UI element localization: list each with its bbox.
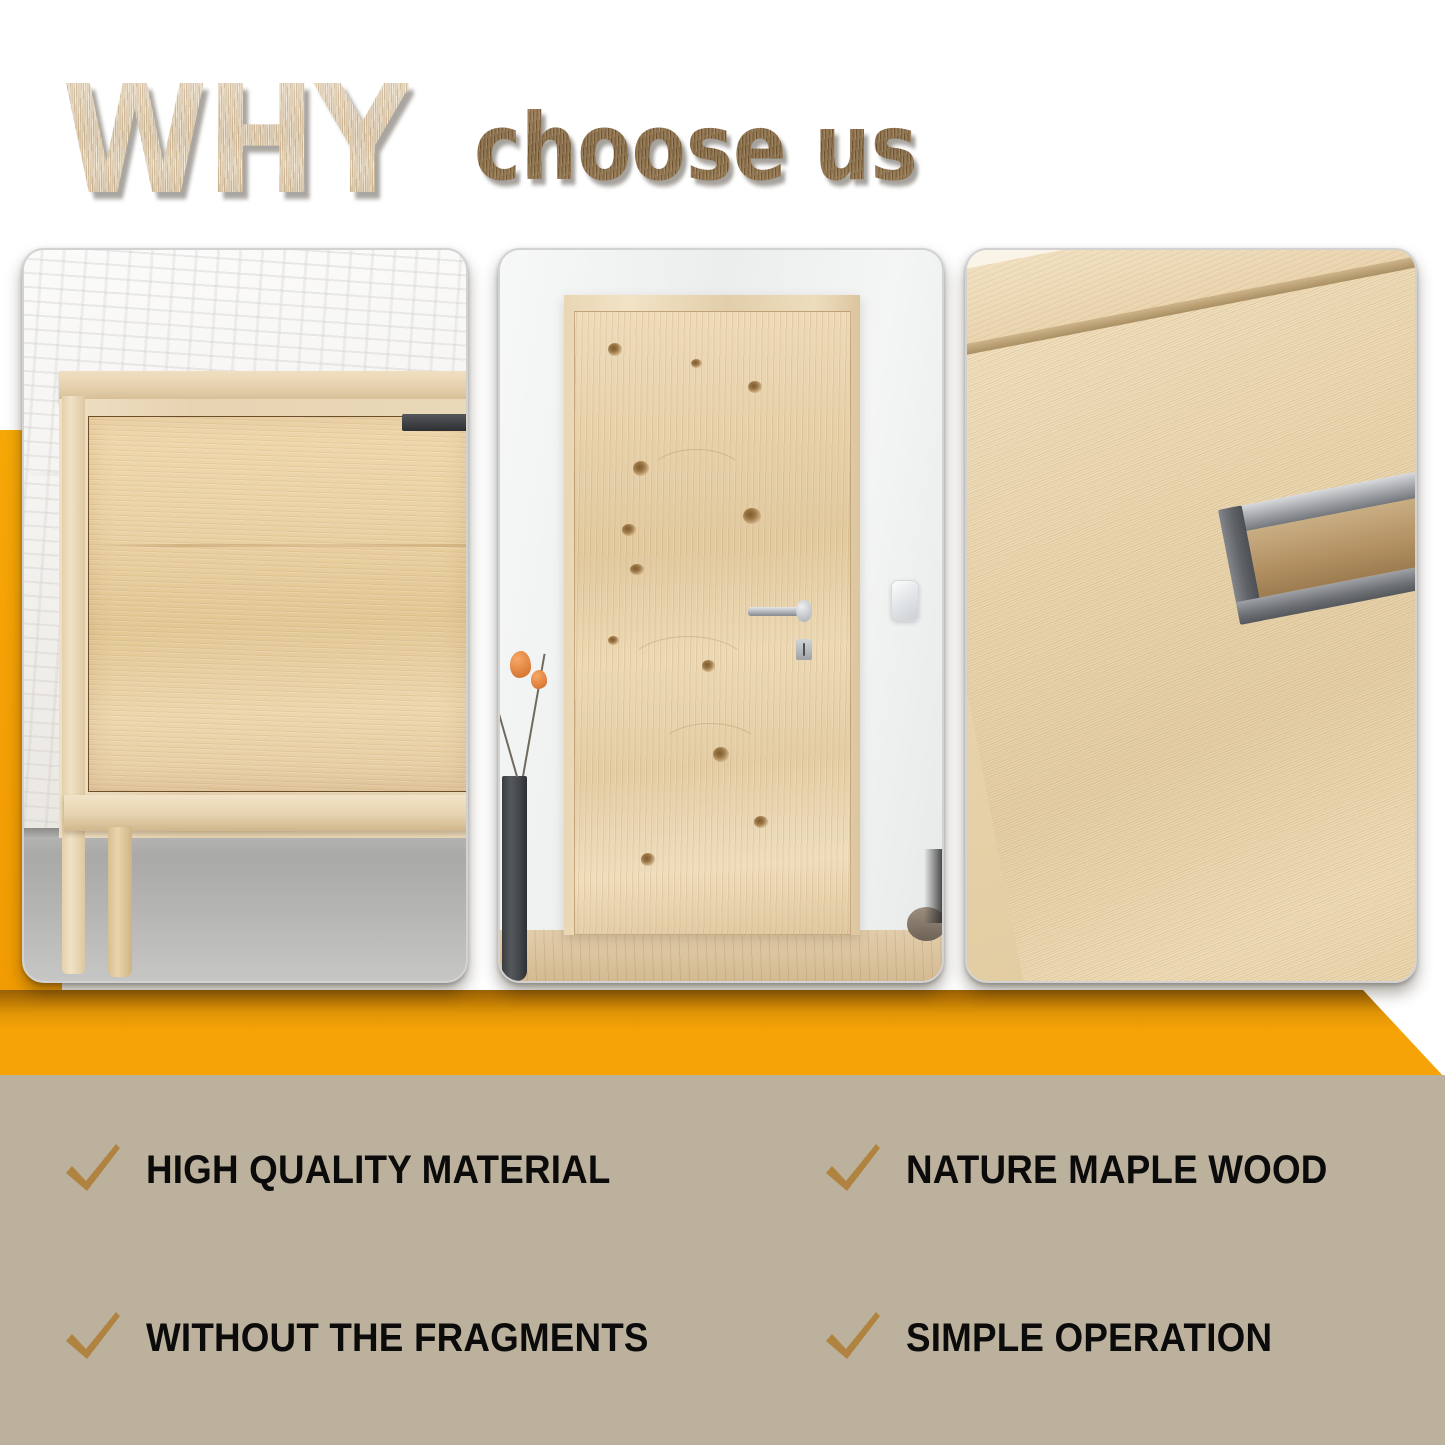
light-switch[interactable]: [891, 580, 918, 621]
wood-knot: [641, 853, 655, 865]
dark-edge-object: [924, 849, 942, 922]
oak-door-photo: [500, 250, 942, 981]
wood-grain: [647, 449, 746, 505]
floor-vase: [502, 776, 526, 981]
wood-knot: [608, 343, 622, 356]
concrete-floor: [24, 828, 466, 982]
infographic-page: WHY choose us: [0, 0, 1445, 1445]
feature-label: WITHOUT THE FRAGMENTS: [146, 1316, 649, 1361]
door-frame: [564, 295, 860, 935]
feature-item-without-the-fragments: WITHOUT THE FRAGMENTS: [62, 1307, 692, 1369]
checkmark-icon: [62, 1307, 124, 1369]
checkmark-icon: [822, 1139, 884, 1201]
wood-knot: [691, 359, 702, 368]
cabinet-bottom-rail: [64, 795, 466, 832]
wood-knot: [622, 524, 636, 536]
handle-rosette: [796, 600, 811, 622]
drawer-front: [88, 416, 466, 792]
feature-label: HIGH QUALITY MATERIAL: [146, 1148, 611, 1193]
drawer-handle: [402, 414, 466, 432]
feature-label: SIMPLE OPERATION: [906, 1316, 1272, 1361]
wood-knot: [754, 816, 768, 828]
checkmark-icon: [822, 1307, 884, 1369]
wood-grain: [658, 723, 762, 779]
oak-door-leaf: [574, 311, 851, 935]
nightstand-photo: [24, 250, 466, 981]
door-lever-handle[interactable]: [748, 607, 803, 616]
photo-gallery: [0, 0, 1445, 1000]
feature-list: HIGH QUALITY MATERIAL NATURE MAPLE WOOD …: [0, 1075, 1445, 1445]
door-keyhole-escutcheon: [796, 639, 812, 660]
cabinet-left-leg: [62, 396, 85, 973]
wood-floor: [500, 930, 942, 981]
checkmark-icon: [62, 1139, 124, 1201]
dried-poppy-bloom: [510, 651, 531, 677]
feature-item-nature-maple-wood: NATURE MAPLE WOOD: [822, 1139, 1364, 1201]
gallery-card-oak-door[interactable]: [498, 248, 944, 983]
gallery-card-drawer-edge[interactable]: [965, 248, 1417, 983]
wood-knot: [743, 508, 761, 524]
wood-knot: [748, 381, 762, 393]
feature-item-high-quality-material: HIGH QUALITY MATERIAL: [62, 1139, 651, 1201]
orange-accent-bottom-band: [0, 990, 1445, 1075]
dried-poppy-bloom: [531, 670, 547, 688]
cabinet-front-leg: [108, 827, 132, 977]
feature-label: NATURE MAPLE WOOD: [906, 1148, 1328, 1193]
drawer-front-face: [967, 250, 1415, 981]
wood-knot: [608, 636, 619, 646]
wood-grain: [625, 636, 751, 704]
drawer-edge-photo: [967, 250, 1415, 981]
wood-knot: [630, 564, 644, 575]
feature-item-simple-operation: SIMPLE OPERATION: [822, 1307, 1304, 1369]
cabinet-top-panel: [59, 371, 466, 403]
gallery-card-nightstand[interactable]: [22, 248, 468, 983]
